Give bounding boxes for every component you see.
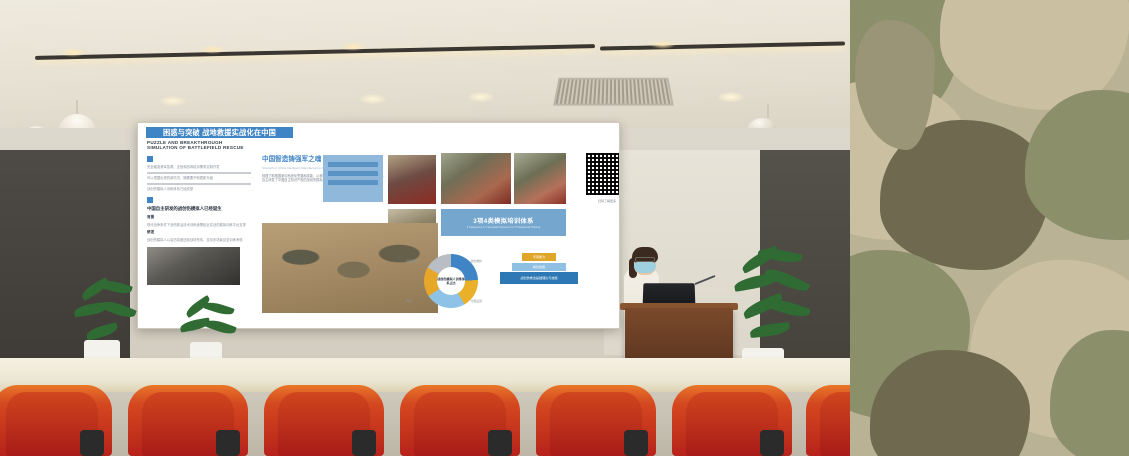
donut-label: 基础理论	[406, 259, 418, 263]
banner-title-en: 3 Categories & 4 Simulated Systems for P…	[467, 226, 541, 229]
light-glow	[200, 45, 226, 54]
donut-chart: 战创伤模拟人训练体系占比 基础理论 战位救护 考核 分级后送	[406, 251, 482, 313]
downlight	[160, 96, 186, 106]
field-rescue-photo	[441, 153, 511, 204]
pendant-cable	[767, 104, 769, 118]
seat-stem	[216, 430, 240, 456]
donut-center-label: 战创伤模拟人训练体系占比	[437, 267, 465, 295]
left-heading: 中国自主研发的战创伤模拟人已经诞生	[147, 206, 251, 212]
left-bullet: 完全瞄准我军急救、交班和战场培训需求定制开发	[147, 165, 251, 169]
qr-caption: 扫码了解更多	[584, 199, 620, 203]
section-marker	[147, 156, 153, 162]
light-glow	[650, 40, 676, 49]
downlight	[468, 92, 494, 102]
field-rescue-photo	[514, 153, 566, 204]
slide-title-bar: 困惑与突破 战地救援实战化在中国	[146, 127, 293, 138]
left-subheading-2: 研发	[147, 230, 251, 235]
seat-stem	[760, 430, 784, 456]
pyramid-level-mid: 岗位技能	[512, 263, 566, 271]
donut-label: 战位救护	[470, 259, 482, 263]
slide-chip-list	[323, 155, 383, 202]
seat-stem	[352, 430, 376, 456]
podium	[625, 308, 733, 362]
light-glow	[60, 48, 86, 57]
divider	[147, 172, 251, 174]
archive-photo	[147, 247, 240, 285]
ceiling	[0, 0, 850, 140]
donut-label: 分级后送	[470, 299, 482, 303]
slide-left-column: 完全瞄准我军急救、交班和战场培训需求定制开发 可以根据出现的新情况，随需要不断更…	[147, 156, 251, 285]
camouflage-background: 9:41 张瑾 12月14日 星期二	[850, 0, 1129, 456]
left-subheading-1: 背景	[147, 215, 251, 220]
light-glow	[340, 42, 366, 51]
divider	[147, 183, 251, 185]
left-subbody-2: 战创伤模拟人以高仿真度还原战场伤情，支持多场景反复训练考核	[147, 238, 251, 242]
slide-title-cn: 困惑与突破 战地救援实战化在中国	[146, 127, 293, 138]
qr-code	[584, 151, 620, 197]
donut-label: 考核	[406, 299, 412, 303]
pyramid-level-base: 战创伤救治基础理论与技能	[500, 272, 578, 284]
section-marker	[147, 197, 153, 203]
ceiling-air-vent	[553, 78, 674, 106]
seat-stem	[624, 430, 648, 456]
speaker-face-mask	[634, 262, 656, 273]
slide-title-en: PUZZLE AND BREAKTHROUGH SIMULATION OF BA…	[147, 140, 244, 151]
screenshot-stage: 困惑与突破 战地救援实战化在中国 PUZZLE AND BREAKTHROUGH…	[0, 0, 1129, 456]
banner-title-cn: 3项4类模拟培训体系	[473, 216, 533, 225]
auditorium-seat	[806, 385, 850, 456]
downlight	[718, 92, 744, 102]
left-subbody-1: 现代战争条件下战伤救治技术训练亟需贴近实战的模拟训练平台支撑	[147, 223, 251, 227]
field-rescue-photo	[388, 155, 436, 204]
seat-stem	[488, 430, 512, 456]
pyramid-level-top: 专项能力	[522, 253, 556, 261]
left-bullet: 战创伤模拟人训练体系已经成型	[147, 187, 251, 191]
conference-room-photo: 困惑与突破 战地救援实战化在中国 PUZZLE AND BREAKTHROUGH…	[0, 0, 850, 456]
downlight	[360, 94, 386, 104]
seat-stem	[80, 430, 104, 456]
training-system-banner: 3项4类模拟培训体系 3 Categories & 4 Simulated Sy…	[441, 209, 566, 236]
left-bullet: 可以根据出现的新情况，随需要不断更新升级	[147, 176, 251, 180]
pyramid-diagram: 专项能力 岗位技能 战创伤救治基础理论与技能	[498, 253, 580, 286]
